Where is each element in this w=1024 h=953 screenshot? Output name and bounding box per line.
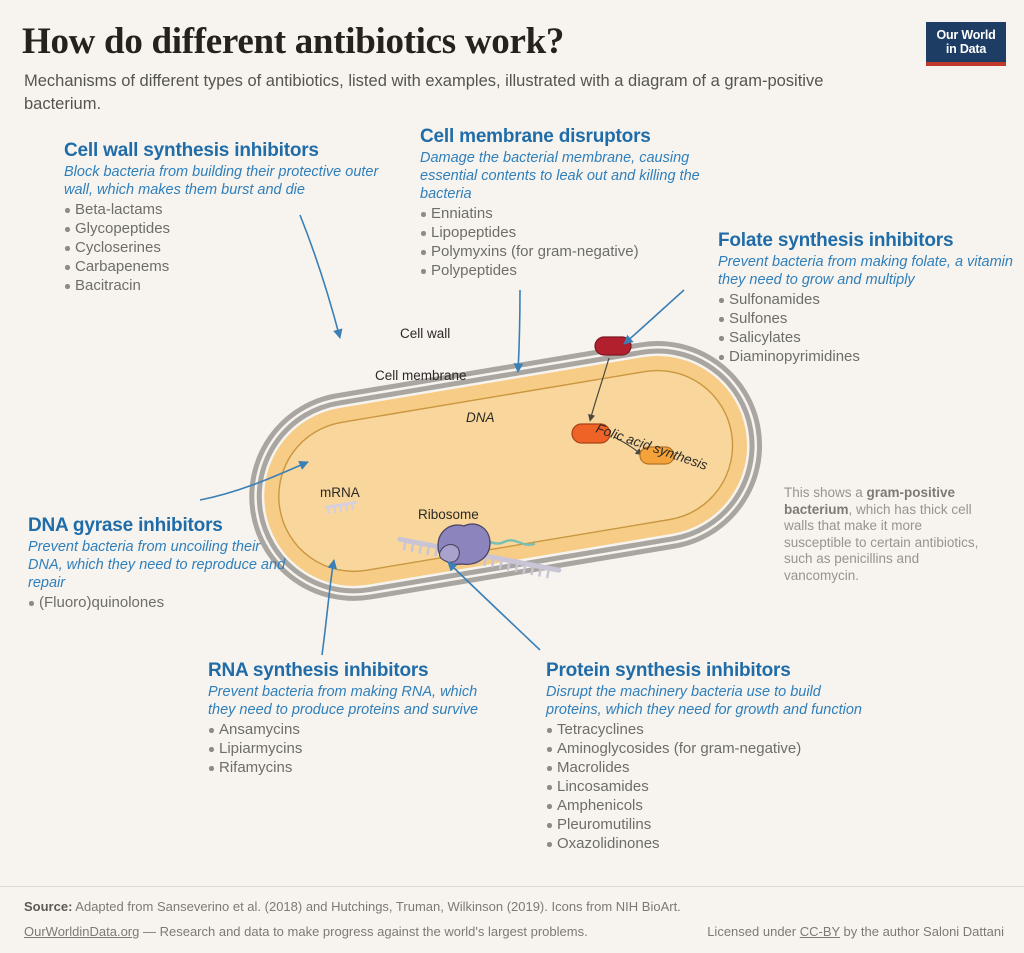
label-mrna: mRNA [320,485,360,500]
block-description: Prevent bacteria from uncoiling their DN… [28,538,298,592]
site-link[interactable]: OurWorldinData.org [24,924,139,939]
block-description: Block bacteria from building their prote… [64,163,394,199]
source-label: Source: [24,899,72,914]
label-folic-acid-synthesis: Folic acid synthesis [594,421,710,473]
block-title: Protein synthesis inhibitors [546,660,866,682]
license-line: Licensed under CC-BY by the author Salon… [707,923,1004,941]
list-item: Rifamycins [208,758,498,777]
dna-strand [310,404,742,553]
block-list: Sulfonamides Sulfones Salicylates Diamin… [718,290,1018,366]
infographic-page: How do different antibiotics work? Mecha… [0,0,1024,953]
block-cell-wall-synthesis-inhibitors: Cell wall synthesis inhibitors Block bac… [64,140,394,295]
list-item: Glycopeptides [64,219,394,238]
block-list: Enniatins Lipopeptides Polymyxins (for g… [420,204,740,280]
arrow-folate [624,290,684,344]
list-item: Beta-lactams [64,200,394,219]
label-dna: DNA [466,410,495,425]
block-protein-synthesis-inhibitors: Protein synthesis inhibitors Disrupt the… [546,660,866,853]
list-item: Macrolides [546,758,866,777]
block-dna-gyrase-inhibitors: DNA gyrase inhibitors Prevent bacteria f… [28,515,298,612]
ribosome-complex [398,524,559,580]
source-line: Source: Adapted from Sanseverino et al. … [24,898,1004,916]
footer-divider [0,886,1024,887]
block-cell-membrane-disruptors: Cell membrane disruptors Damage the bact… [420,126,740,280]
block-title: Cell membrane disruptors [420,126,740,148]
tagline: — Research and data to make progress aga… [139,924,587,939]
gram-positive-note: This shows a gram-positive bacterium, wh… [784,485,989,584]
list-item: Sulfonamides [718,290,1018,309]
page-subtitle: Mechanisms of different types of antibio… [24,70,854,116]
block-title: Cell wall synthesis inhibitors [64,140,394,162]
license-before: Licensed under [707,924,800,939]
list-item: Aminoglycosides (for gram-negative) [546,739,866,758]
mrna-glyph [325,502,358,514]
list-item: Enniatins [420,204,740,223]
block-title: RNA synthesis inhibitors [208,660,498,682]
block-title: DNA gyrase inhibitors [28,515,298,537]
capsule-folate-precursor [572,424,610,443]
list-item: Salicylates [718,328,1018,347]
footer-bottom-row: OurWorldinData.org — Research and data t… [24,923,1004,941]
block-description: Prevent bacteria from making folate, a v… [718,253,1018,289]
block-list: (Fluoro)quinolones [28,593,298,612]
arrow-rna-synthesis [322,560,334,655]
block-list: Ansamycins Lipiarmycins Rifamycins [208,720,498,777]
list-item: Cycloserines [64,238,394,257]
block-description: Prevent bacteria from making RNA, which … [208,683,498,719]
license-after: by the author Saloni Dattani [840,924,1004,939]
arrow-protein-synthesis [448,562,540,650]
list-item: Pleuromutilins [546,815,866,834]
list-item: Carbapenems [64,257,394,276]
list-item: Polymyxins (for gram-negative) [420,242,740,261]
capsule-outside-cell [595,337,631,355]
note-text-before: This shows a [784,485,867,500]
block-description: Disrupt the machinery bacteria use to bu… [546,683,866,719]
list-item: Amphenicols [546,796,866,815]
block-list: Beta-lactams Glycopeptides Cycloserines … [64,200,394,295]
list-item: Lincosamides [546,777,866,796]
list-item: Diaminopyrimidines [718,347,1018,366]
list-item: Lipiarmycins [208,739,498,758]
logo-line-1: Our World [936,28,995,42]
source-text: Adapted from Sanseverino et al. (2018) a… [72,899,680,914]
list-item: Oxazolidinones [546,834,866,853]
block-list: Tetracyclines Aminoglycosides (for gram-… [546,720,866,853]
list-item: Lipopeptides [420,223,740,242]
label-ribosome: Ribosome [418,507,479,522]
block-title: Folate synthesis inhibitors [718,230,1018,252]
footer: Source: Adapted from Sanseverino et al. … [24,898,1004,941]
list-item: Ansamycins [208,720,498,739]
our-world-in-data-logo[interactable]: Our World in Data [926,22,1006,66]
list-item: Bacitracin [64,276,394,295]
arrow-dna-gyrase [200,462,308,500]
list-item: Tetracyclines [546,720,866,739]
block-rna-synthesis-inhibitors: RNA synthesis inhibitors Prevent bacteri… [208,660,498,777]
capsule-folate [640,447,674,464]
list-item: Polypeptides [420,261,740,280]
block-description: Damage the bacterial membrane, causing e… [420,149,740,203]
page-title: How do different antibiotics work? [22,20,564,63]
label-cell-wall: Cell wall [400,326,450,341]
license-link[interactable]: CC-BY [800,924,840,939]
label-cell-membrane: Cell membrane [375,368,467,383]
list-item: (Fluoro)quinolones [28,593,298,612]
arrow-cell-membrane [518,290,520,372]
cell-wall-shape [236,328,775,614]
site-line: OurWorldinData.org — Research and data t… [24,923,588,941]
list-item: Sulfones [718,309,1018,328]
logo-line-2: in Data [946,42,986,56]
block-folate-synthesis-inhibitors: Folate synthesis inhibitors Prevent bact… [718,230,1018,366]
